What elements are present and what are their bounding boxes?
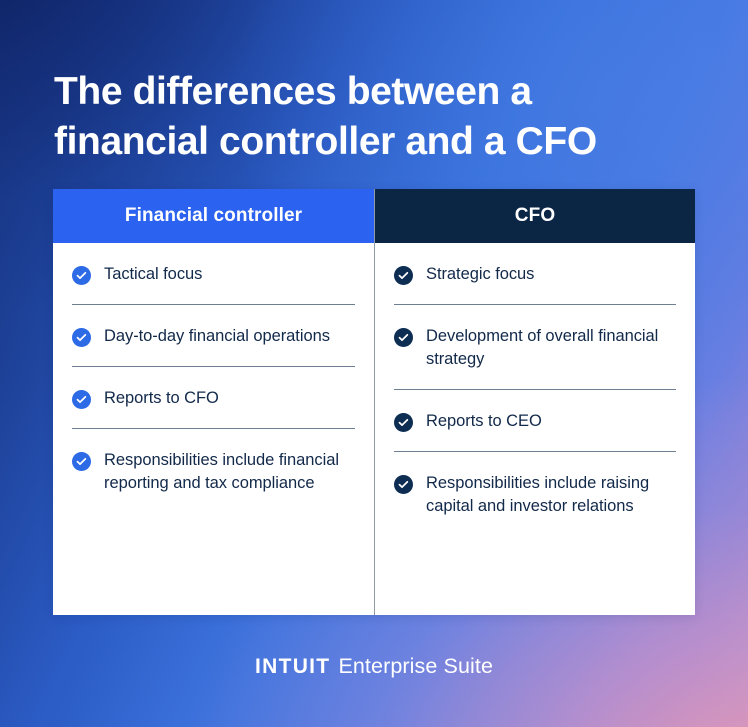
row-label: Responsibilities include raising capital…: [426, 472, 676, 518]
footer-brand-lockup: INTUIT Enterprise Suite: [0, 654, 748, 679]
check-circle-icon: [394, 328, 413, 347]
page-title-line-1: The differences between a: [54, 67, 694, 117]
row-label: Responsibilities include financial repor…: [104, 449, 355, 495]
check-circle-icon: [72, 328, 91, 347]
row-label: Development of overall financial strateg…: [426, 325, 676, 371]
table-row: Responsibilities include raising capital…: [394, 451, 676, 536]
check-circle-icon: [72, 452, 91, 471]
row-label: Day-to-day financial operations: [104, 325, 334, 348]
table-row: Tactical focus: [72, 243, 355, 304]
check-circle-icon: [394, 413, 413, 432]
column-financial-controller: Financial controller Tactical focus: [53, 189, 374, 615]
column-cfo: CFO Strategic focus: [374, 189, 695, 615]
table-row: Reports to CEO: [394, 389, 676, 451]
page-title: The differences between a financial cont…: [54, 67, 694, 167]
check-circle-icon: [72, 266, 91, 285]
row-label: Reports to CEO: [426, 410, 546, 433]
intuit-wordmark: INTUIT: [255, 655, 330, 679]
product-name-label: Enterprise Suite: [338, 654, 493, 679]
column-header-financial-controller: Financial controller: [53, 189, 374, 243]
check-circle-icon: [72, 390, 91, 409]
table-row: Reports to CFO: [72, 366, 355, 428]
column-header-cfo: CFO: [375, 189, 695, 243]
table-row: Strategic focus: [394, 243, 676, 304]
table-row: Development of overall financial strateg…: [394, 304, 676, 389]
table-row: Day-to-day financial operations: [72, 304, 355, 366]
column-body-cfo: Strategic focus Development of overall f…: [375, 243, 695, 615]
column-body-financial-controller: Tactical focus Day-to-day financial oper…: [53, 243, 374, 615]
row-label: Tactical focus: [104, 263, 206, 286]
comparison-table: Financial controller Tactical focus: [53, 189, 695, 615]
page-title-line-2: financial controller and a CFO: [54, 117, 694, 167]
row-label: Strategic focus: [426, 263, 538, 286]
table-row: Responsibilities include financial repor…: [72, 428, 355, 513]
check-circle-icon: [394, 266, 413, 285]
row-label: Reports to CFO: [104, 387, 223, 410]
check-circle-icon: [394, 475, 413, 494]
